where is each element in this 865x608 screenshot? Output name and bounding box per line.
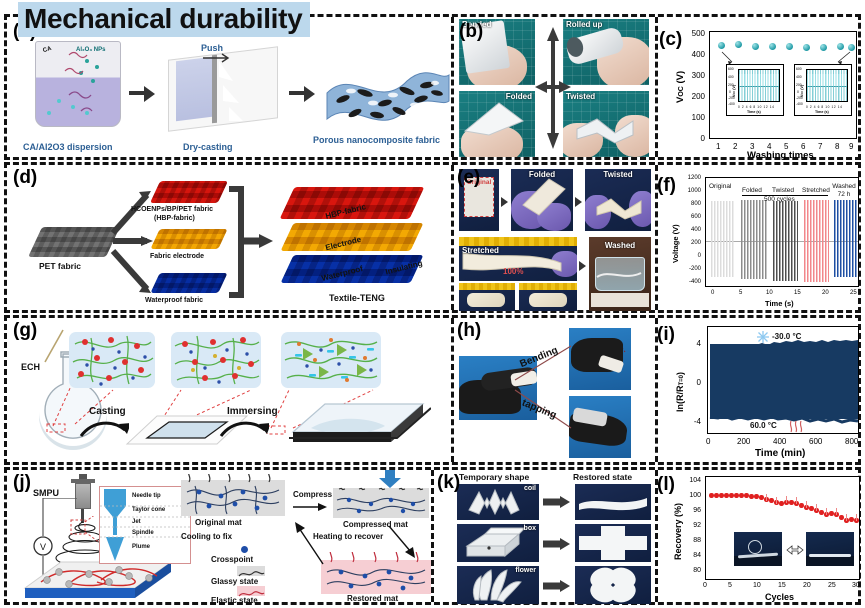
j-smp-cycle: Original mat Compress	[181, 474, 431, 602]
wave-pink-icon	[237, 586, 265, 596]
l-data-point	[749, 494, 754, 499]
i-annotation-hot: 60.0 °C	[750, 421, 777, 430]
f-xtick: 5	[739, 290, 742, 296]
f-ytick: 800	[675, 201, 701, 207]
c-inset-xticks: 0 2 4 6 8 10 12 14	[738, 105, 775, 109]
panel-l-chart: 104 100 96 92 88 84 80 Recovery (%)	[655, 472, 865, 606]
l-data-point	[779, 501, 784, 506]
i-plot-area: -30.0 °C 60.0 °C	[707, 326, 859, 434]
j-cooling-label: Cooling to fix	[181, 532, 232, 541]
f-series-label-4: Washed 72 h	[832, 183, 856, 199]
panel-label-e: (e)	[457, 167, 480, 189]
l-xtick: 0	[703, 582, 707, 589]
f-ytick: 1200	[675, 175, 701, 181]
c-inset-ytick: 400	[796, 75, 802, 79]
l-ylabel: Recovery (%)	[673, 503, 683, 560]
c-ytick: 200	[683, 92, 705, 101]
j-jet-label-2: Jet	[132, 519, 141, 525]
k-col-header-1: Restored state	[573, 472, 632, 482]
f-series-original	[711, 201, 735, 277]
d-branch-label-2: Waterproof fabric	[145, 297, 203, 304]
photo-restored-flower	[575, 566, 651, 604]
photo-temp-flower: flower	[457, 566, 539, 604]
f-xtick: 20	[822, 290, 829, 296]
i-ytick: 4	[681, 339, 701, 348]
panel-label-h: (h)	[457, 320, 481, 342]
textile-teng-stack: HBP-fabric Electrode Waterproof Insulati…	[281, 181, 446, 311]
panel-k-grid: Temporary shape Restored state coil	[457, 472, 651, 604]
c-inset-2: 600 400 200 0 -200 -400 0 2 4 6 8 10 12 …	[794, 64, 852, 116]
c-xtick: 8	[835, 142, 839, 151]
c-ytick: 400	[683, 50, 705, 59]
j-jet-inset: Needle tip Taylor cone Jet Spindle Plume	[99, 486, 191, 564]
l-xtick: 5	[728, 582, 732, 589]
l-data-point	[809, 506, 814, 511]
photo-temp-box: box	[457, 524, 539, 562]
k-shape-tag-1: box	[524, 525, 536, 532]
i-xtick: 600	[809, 437, 822, 446]
l-xtick: 10	[753, 582, 761, 589]
i-annotation-cold: -30.0 °C	[772, 332, 801, 341]
c-ytick: 100	[683, 113, 705, 122]
l-data-point	[839, 515, 844, 520]
l-ytick: 104	[677, 477, 701, 484]
l-xtick: 25	[828, 582, 836, 589]
l-inset-photo-left	[734, 532, 782, 566]
photo-restored-box	[575, 524, 651, 562]
c-xtick: 1	[716, 142, 720, 151]
f-series-twisted	[773, 201, 798, 281]
l-xtick: 15	[778, 582, 786, 589]
l-data-point	[714, 493, 719, 498]
panel-f-chart: 1200 1000 800 600 400 200 0 -200 -400 Vo…	[655, 167, 865, 313]
c-inset-ytick: 600	[728, 67, 734, 71]
j-legend-label-2: Elastic state	[211, 596, 258, 605]
c-xtick: 2	[733, 142, 737, 151]
panel-a-artwork: CA Al₂O₃ NPs CA/Al2O3 dispersion	[13, 39, 443, 157]
d-branch-label-1: Fabric electrode	[150, 253, 204, 260]
f-series-label-1: Folded	[742, 187, 762, 194]
l-data-point	[719, 493, 724, 498]
panel-h-artwork: Bending tapping	[459, 328, 651, 458]
photo-folded: Folded	[459, 91, 535, 157]
fabric-electrode-block	[150, 229, 227, 249]
l-data-point	[829, 511, 834, 516]
k-col-header-0: Temporary shape	[459, 472, 529, 482]
photo-twisted: Twisted	[563, 91, 649, 157]
j-legend: Crosspoint Glassy state Elastic state	[207, 544, 325, 602]
f-group-note: 500 cycles	[764, 196, 795, 203]
panel-label-b: (b)	[459, 21, 483, 43]
panel-label-f: (f)	[657, 175, 676, 197]
c-inset-xlabel: Time (s)	[815, 110, 829, 114]
photo-stretched-after	[519, 283, 577, 311]
panel-a-push-label: Push	[201, 43, 223, 53]
i-xtick: 200	[737, 437, 750, 446]
photo-temp-coil: coil	[457, 484, 539, 520]
i-xtick: 400	[773, 437, 786, 446]
c-ylabel: VOC (V)	[675, 71, 686, 103]
d-branch-label-0: HCOENPs/BP/PET fabric	[131, 206, 213, 213]
j-original-mat-label: Original mat	[195, 518, 242, 527]
l-ytick: 100	[677, 492, 701, 499]
c-inset-xlabel: Time (s)	[747, 110, 761, 114]
panel-row-2: (d) PET fabric HCOENPs/BP/PET fabric (HB…	[4, 162, 861, 313]
i-ytick: -4	[681, 417, 701, 426]
l-data-point	[729, 493, 734, 498]
c-ytick: 300	[683, 71, 705, 80]
panel-label-c: (c)	[659, 29, 682, 51]
panel-c-chart: 500 400 300 200 100 0 VOC (V)	[655, 19, 865, 161]
f-series-folded	[741, 200, 767, 279]
photo-tag: Folded	[511, 170, 573, 179]
panel-label-g: (g)	[13, 320, 37, 342]
f-ylabel: Voltage (V)	[671, 224, 680, 263]
panel-label-k: (k)	[437, 472, 460, 494]
panel-label-i: (i)	[657, 324, 675, 346]
panel-row-3: (g) ECH	[4, 315, 861, 465]
panel-label-l: (l)	[657, 474, 675, 496]
panel-a-caption-drycasting: Dry-casting	[183, 142, 233, 152]
l-ytick: 80	[677, 567, 701, 574]
f-series-label-0: Original	[709, 183, 731, 190]
j-compress-label: Compress	[293, 490, 332, 499]
heat-waves-icon	[788, 419, 808, 433]
photo-stretched-before	[459, 283, 515, 311]
l-data-point	[759, 495, 764, 500]
c-inset-ylabel: VOC (V)	[732, 85, 736, 97]
mechanical-durability-figure: Mechanical durability (a) CA Al₂O₃ NPs	[0, 0, 865, 608]
c-inset-ylabel: VOC (V)	[800, 85, 804, 97]
l-data-point	[799, 503, 804, 508]
l-data-point	[819, 510, 824, 515]
f-xtick: 25	[850, 290, 857, 296]
f-ytick: -200	[675, 266, 701, 272]
c-inset-ytick: 0	[729, 90, 731, 94]
f-xtick: 0	[711, 290, 714, 296]
j-jet-label-0: Needle tip	[132, 493, 161, 499]
f-series-washed	[834, 200, 858, 277]
j-legend-label-1: Glassy state	[211, 577, 258, 586]
stretch-percent: 100%	[503, 267, 523, 276]
d-branch-sub-0: (HBP-fabric)	[154, 215, 195, 222]
c-inset-ytick: -400	[796, 102, 803, 106]
l-data-point	[724, 493, 729, 498]
l-data-point	[739, 493, 744, 498]
k-shape-tag-2: flower	[515, 567, 536, 574]
i-ylabel: ln(R/RT=0)	[675, 372, 685, 412]
panel-b-photo-grid: Bended Rolled up Folded Twisted	[459, 19, 649, 159]
c-inset-xticks: 0 2 4 6 8 10 12 14	[806, 105, 843, 109]
photo-rolled-up: Rolled up	[563, 19, 649, 85]
l-data-point	[754, 494, 759, 499]
snowflake-icon	[756, 330, 770, 344]
f-ytick: 600	[675, 214, 701, 220]
c-xlabel: Washing times	[747, 150, 814, 161]
c-inset-1: 600 400 200 0 -200 -400 0 2 4 6 8 10 12 …	[726, 64, 784, 116]
c-ytick: 0	[683, 134, 705, 143]
j-jet-label-3: Spindle	[132, 530, 154, 536]
i-xtick: 800	[845, 437, 858, 446]
panel-row-4: (j) SMPU V	[4, 467, 861, 605]
photo-folded: Folded	[511, 169, 573, 231]
panel-j-artwork: SMPU V	[11, 474, 431, 602]
i-xtick: 0	[706, 437, 710, 446]
l-plot-area	[705, 476, 860, 580]
l-data-point	[734, 493, 739, 498]
photo-tag: Twisted	[585, 170, 651, 179]
k-shape-tag-0: coil	[524, 485, 536, 492]
l-xtick: 30	[852, 582, 860, 589]
f-ytick: 1000	[675, 188, 701, 194]
photo-tag: Stretched	[462, 246, 499, 255]
c-inset-ytick: 400	[728, 75, 734, 79]
j-jet-label-4: Plume	[132, 544, 150, 550]
panel-label-d: (d)	[13, 167, 37, 189]
photo-tag: Folded	[506, 92, 532, 101]
f-series-label-2: Twisted	[772, 187, 794, 194]
panel-i-chart: 4 0 -4 ln(R/RT=0) -30.0 °C 6	[655, 320, 865, 466]
j-jet-label-1: Taylor cone	[132, 507, 165, 513]
l-data-point	[744, 493, 749, 498]
i-xlabel: Time (min)	[755, 448, 805, 459]
waterproof-fabric-block	[150, 273, 227, 293]
photo-twisted: Twisted	[585, 169, 651, 231]
c-xtick: 9	[849, 142, 853, 151]
panel-a-caption-dispersion: CA/Al2O3 dispersion	[23, 142, 113, 152]
c-inset-ytick: 600	[796, 67, 802, 71]
wave-gray-icon	[237, 566, 265, 576]
l-data-point	[789, 500, 794, 505]
c-xtick: 7	[818, 142, 822, 151]
l-data-point	[849, 517, 854, 522]
f-xtick: 10	[766, 290, 773, 296]
panel-g-artwork: ECH	[13, 324, 449, 462]
j-restored-mat-label: Restored mat	[347, 594, 398, 603]
f-series-stretched	[804, 200, 829, 282]
figure-title: Mechanical durability	[18, 2, 310, 37]
f-series-label-3: Stretched	[802, 187, 830, 194]
f-plot-area: Original Folded Twisted Stretched Washed…	[705, 177, 859, 287]
panel-e-photo-flow: Original Folded Twisted Stretch	[459, 169, 651, 311]
f-ytick: -400	[675, 279, 701, 285]
photo-washed: Washed	[589, 237, 651, 311]
photo-tag: Washed	[589, 241, 651, 250]
f-xtick: 15	[794, 290, 801, 296]
photo-restored-coil	[575, 484, 651, 520]
dot-blue-icon	[241, 546, 248, 553]
photo-stretched: Stretched 100%	[459, 237, 577, 281]
panel-a-caption-fabric: Porous nanocomposite fabric	[313, 135, 440, 145]
textile-teng-title: Textile-TENG	[329, 293, 385, 303]
l-data-point	[769, 498, 774, 503]
panel-d-artwork: PET fabric HCOENPs/BP/PET fabric (HBP-fa…	[13, 173, 448, 311]
f-xlabel: Time (s)	[765, 299, 794, 308]
panel-label-j: (j)	[13, 472, 31, 494]
j-legend-label-0: Crosspoint	[211, 555, 253, 564]
l-data-point	[709, 493, 714, 498]
l-xtick: 20	[803, 582, 811, 589]
c-plot-area: 600 400 200 0 -200 -400 0 2 4 6 8 10 12 …	[709, 31, 857, 139]
j-material-label: SMPU	[33, 488, 59, 498]
l-xlabel: Cycles	[765, 592, 794, 602]
hbp-fabric-block	[150, 181, 228, 203]
c-inset-ytick: -400	[728, 102, 735, 106]
l-inset-photo-right	[806, 532, 854, 566]
c-ytick: 500	[683, 29, 705, 38]
c-inset-ytick: 0	[797, 90, 799, 94]
